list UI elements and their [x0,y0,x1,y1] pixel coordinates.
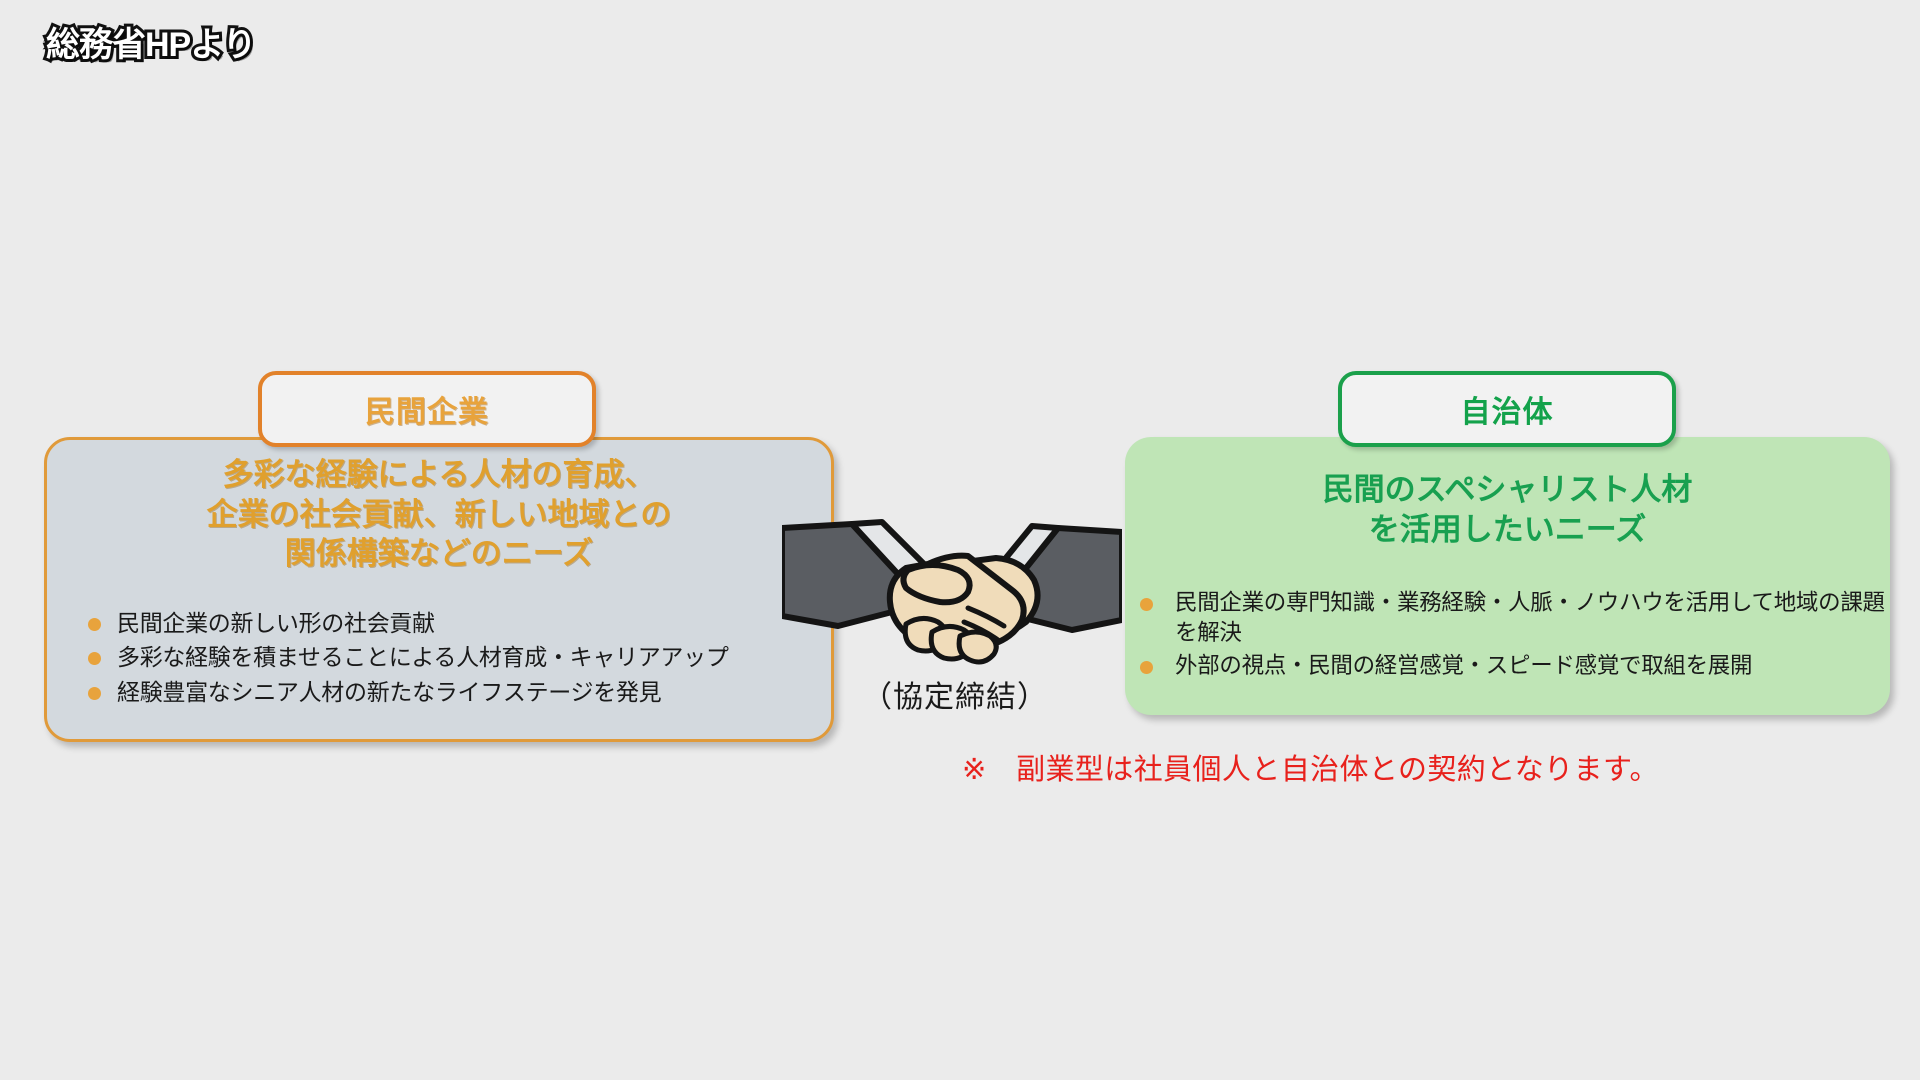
footnote-note: ※ 副業型は社員個人と自治体との契約となります。 [962,746,1659,788]
municipality-heading-line-2: を活用したいニーズ [1125,510,1890,550]
list-item: 多彩な経験を積ませることによる人材育成・キャリアアップ [88,642,818,672]
municipality-tag: 自治体 [1338,371,1676,447]
bullet-dot-icon [88,652,101,665]
list-item-label: 民間企業の専門知識・業務経験・人脈・ノウハウを活用して地域の課題を解決 [1175,588,1885,647]
bullet-dot-icon [88,618,101,631]
list-item: 経験豊富なシニア人材の新たなライフステージを発見 [88,677,818,707]
municipality-heading: 民間のスペシャリスト人材 を活用したいニーズ [1125,470,1890,551]
list-item: 民間企業の新しい形の社会貢献 [88,608,818,638]
slide-canvas: 総務省HPより 民間企業 多彩な経験による人材の育成、 企業の社会貢献、新しい地… [0,0,1920,1080]
list-item-label: 多彩な経験を積ませることによる人材育成・キャリアアップ [117,642,729,672]
bullet-dot-icon [1140,598,1153,611]
private-company-tag-label: 民間企業 [365,387,489,431]
page-title: 総務省HPより [46,17,256,66]
list-item: 外部の視点・民間の経営感覚・スピード感覚で取組を展開 [1140,651,1885,681]
private-company-heading-line-1: 多彩な経験による人材の育成、 [44,455,834,495]
list-item-label: 民間企業の新しい形の社会貢献 [117,608,435,638]
municipality-heading-line-1: 民間のスペシャリスト人材 [1125,470,1890,510]
municipality-bullet-list: 民間企業の専門知識・業務経験・人脈・ノウハウを活用して地域の課題を解決 外部の視… [1140,588,1885,685]
bullet-dot-icon [88,687,101,700]
list-item-label: 外部の視点・民間の経営感覚・スピード感覚で取組を展開 [1175,651,1752,681]
private-company-heading-line-3: 関係構築などのニーズ [44,534,834,574]
private-company-heading-line-2: 企業の社会貢献、新しい地域との [44,495,834,535]
agreement-label: （協定締結） [790,672,1120,716]
list-item: 民間企業の専門知識・業務経験・人脈・ノウハウを活用して地域の課題を解決 [1140,588,1885,647]
bullet-dot-icon [1140,661,1153,674]
private-company-heading: 多彩な経験による人材の育成、 企業の社会貢献、新しい地域との 関係構築などのニー… [44,455,834,574]
private-company-tag: 民間企業 [258,371,596,447]
municipality-tag-label: 自治体 [1461,387,1554,431]
private-company-bullet-list: 民間企業の新しい形の社会貢献 多彩な経験を積ませることによる人材育成・キャリアア… [88,608,818,711]
list-item-label: 経験豊富なシニア人材の新たなライフステージを発見 [117,677,661,707]
